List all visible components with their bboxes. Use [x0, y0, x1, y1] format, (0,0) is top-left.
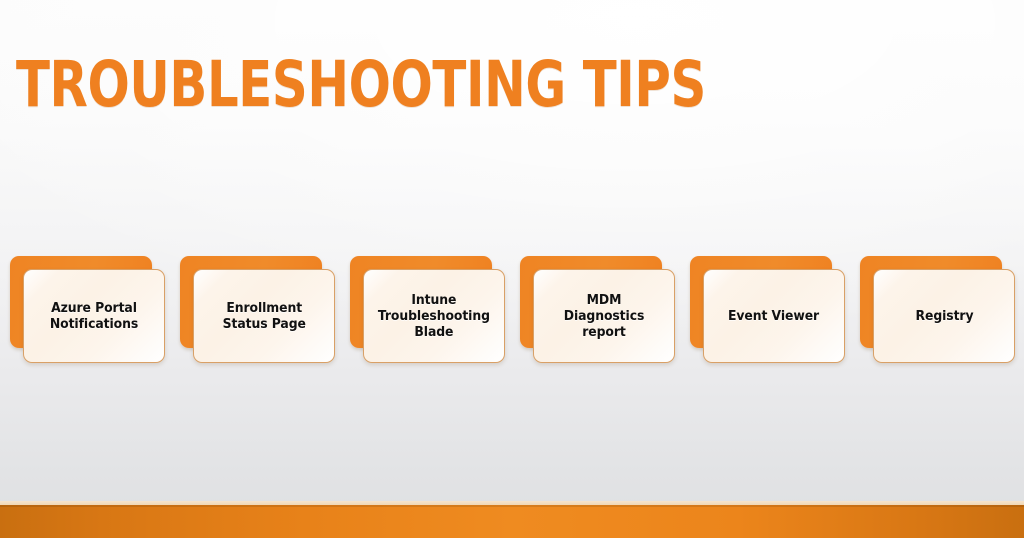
card-azure-portal-notifications[interactable]: Azure PortalNotifications — [10, 256, 165, 366]
card-enrollment-status-page[interactable]: EnrollmentStatus Page — [180, 256, 335, 366]
card-label: MDM Diagnosticsreport — [545, 292, 663, 340]
card-intune-troubleshooting-blade[interactable]: IntuneTroubleshootingBlade — [350, 256, 505, 366]
card-label: Registry — [915, 308, 973, 324]
card-front-face[interactable]: EnrollmentStatus Page — [193, 269, 335, 363]
footer-accent-bar — [0, 505, 1024, 538]
footer-bar-highlight — [0, 505, 1024, 507]
card-label: Event Viewer — [728, 308, 819, 324]
card-front-face[interactable]: Event Viewer — [703, 269, 845, 363]
card-label: EnrollmentStatus Page — [222, 300, 305, 332]
card-registry[interactable]: Registry — [860, 256, 1015, 366]
card-front-face[interactable]: IntuneTroubleshootingBlade — [363, 269, 505, 363]
page-title: TROUBLESHOOTING TIPS — [16, 50, 706, 120]
card-front-face[interactable]: Azure PortalNotifications — [23, 269, 165, 363]
slide: TROUBLESHOOTING TIPS Azure PortalNotific… — [0, 0, 1024, 538]
card-label: Azure PortalNotifications — [50, 300, 138, 332]
card-front-face[interactable]: MDM Diagnosticsreport — [533, 269, 675, 363]
card-front-face[interactable]: Registry — [873, 269, 1015, 363]
card-mdm-diagnostics-report[interactable]: MDM Diagnosticsreport — [520, 256, 675, 366]
card-label: IntuneTroubleshootingBlade — [378, 292, 490, 340]
troubleshooting-tools-row: Azure PortalNotifications EnrollmentStat… — [10, 256, 1014, 368]
card-event-viewer[interactable]: Event Viewer — [690, 256, 845, 366]
